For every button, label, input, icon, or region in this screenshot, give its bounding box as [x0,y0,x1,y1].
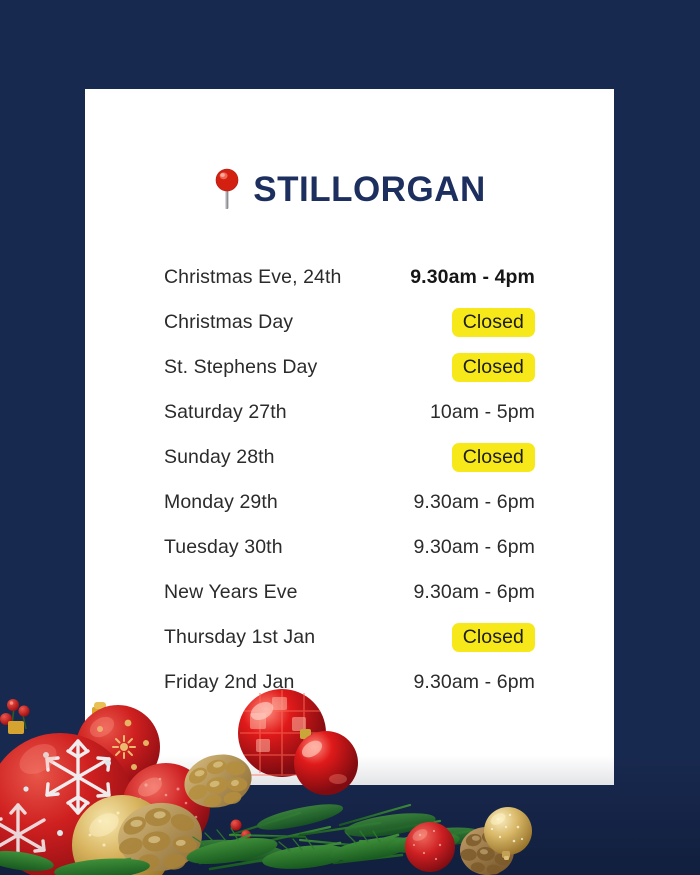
day-label: Tuesday 30th [164,536,283,559]
day-label: Thursday 1st Jan [164,626,315,649]
red-berries [0,699,30,729]
card-header: STILLORGAN [85,166,614,212]
time-value: 9.30am - 6pm [413,671,535,694]
table-row: Christmas Eve, 24th 9.30am - 4pm [164,255,535,300]
status-badge: Closed [452,353,535,382]
round-pushpin-icon [213,168,241,210]
day-label: Christmas Eve, 24th [164,266,341,289]
status-badge: Closed [452,308,535,337]
table-row: Christmas Day Closed [164,300,535,345]
time-value: 9.30am - 6pm [413,581,535,604]
day-label: New Years Eve [164,581,298,604]
page-title: STILLORGAN [253,172,485,207]
day-label: St. Stephens Day [164,356,317,379]
day-label: Sunday 28th [164,446,275,469]
day-label: Friday 2nd Jan [164,671,294,694]
time-value: 10am - 5pm [430,401,535,424]
day-label: Saturday 27th [164,401,287,424]
table-row: Friday 2nd Jan 9.30am - 6pm [164,660,535,705]
table-row: Monday 29th 9.30am - 6pm [164,480,535,525]
time-value: 9.30am - 6pm [413,491,535,514]
poster-stage: STILLORGAN Christmas Eve, 24th 9.30am - … [0,0,700,875]
table-row: Sunday 28th Closed [164,435,535,480]
table-row: Tuesday 30th 9.30am - 6pm [164,525,535,570]
table-row: Thursday 1st Jan Closed [164,615,535,660]
opening-hours-list: Christmas Eve, 24th 9.30am - 4pm Christm… [85,255,614,705]
status-badge: Closed [452,443,535,472]
day-label: Monday 29th [164,491,278,514]
background-shadow [0,755,700,875]
opening-hours-card: STILLORGAN Christmas Eve, 24th 9.30am - … [85,89,614,785]
table-row: Saturday 27th 10am - 5pm [164,390,535,435]
time-value: 9.30am - 6pm [413,536,535,559]
status-badge: Closed [452,623,535,652]
small-gold-glitter-bauble [478,805,540,867]
time-value: 9.30am - 4pm [410,266,535,289]
table-row: New Years Eve 9.30am - 6pm [164,570,535,615]
day-label: Christmas Day [164,311,293,334]
table-row: St. Stephens Day Closed [164,345,535,390]
